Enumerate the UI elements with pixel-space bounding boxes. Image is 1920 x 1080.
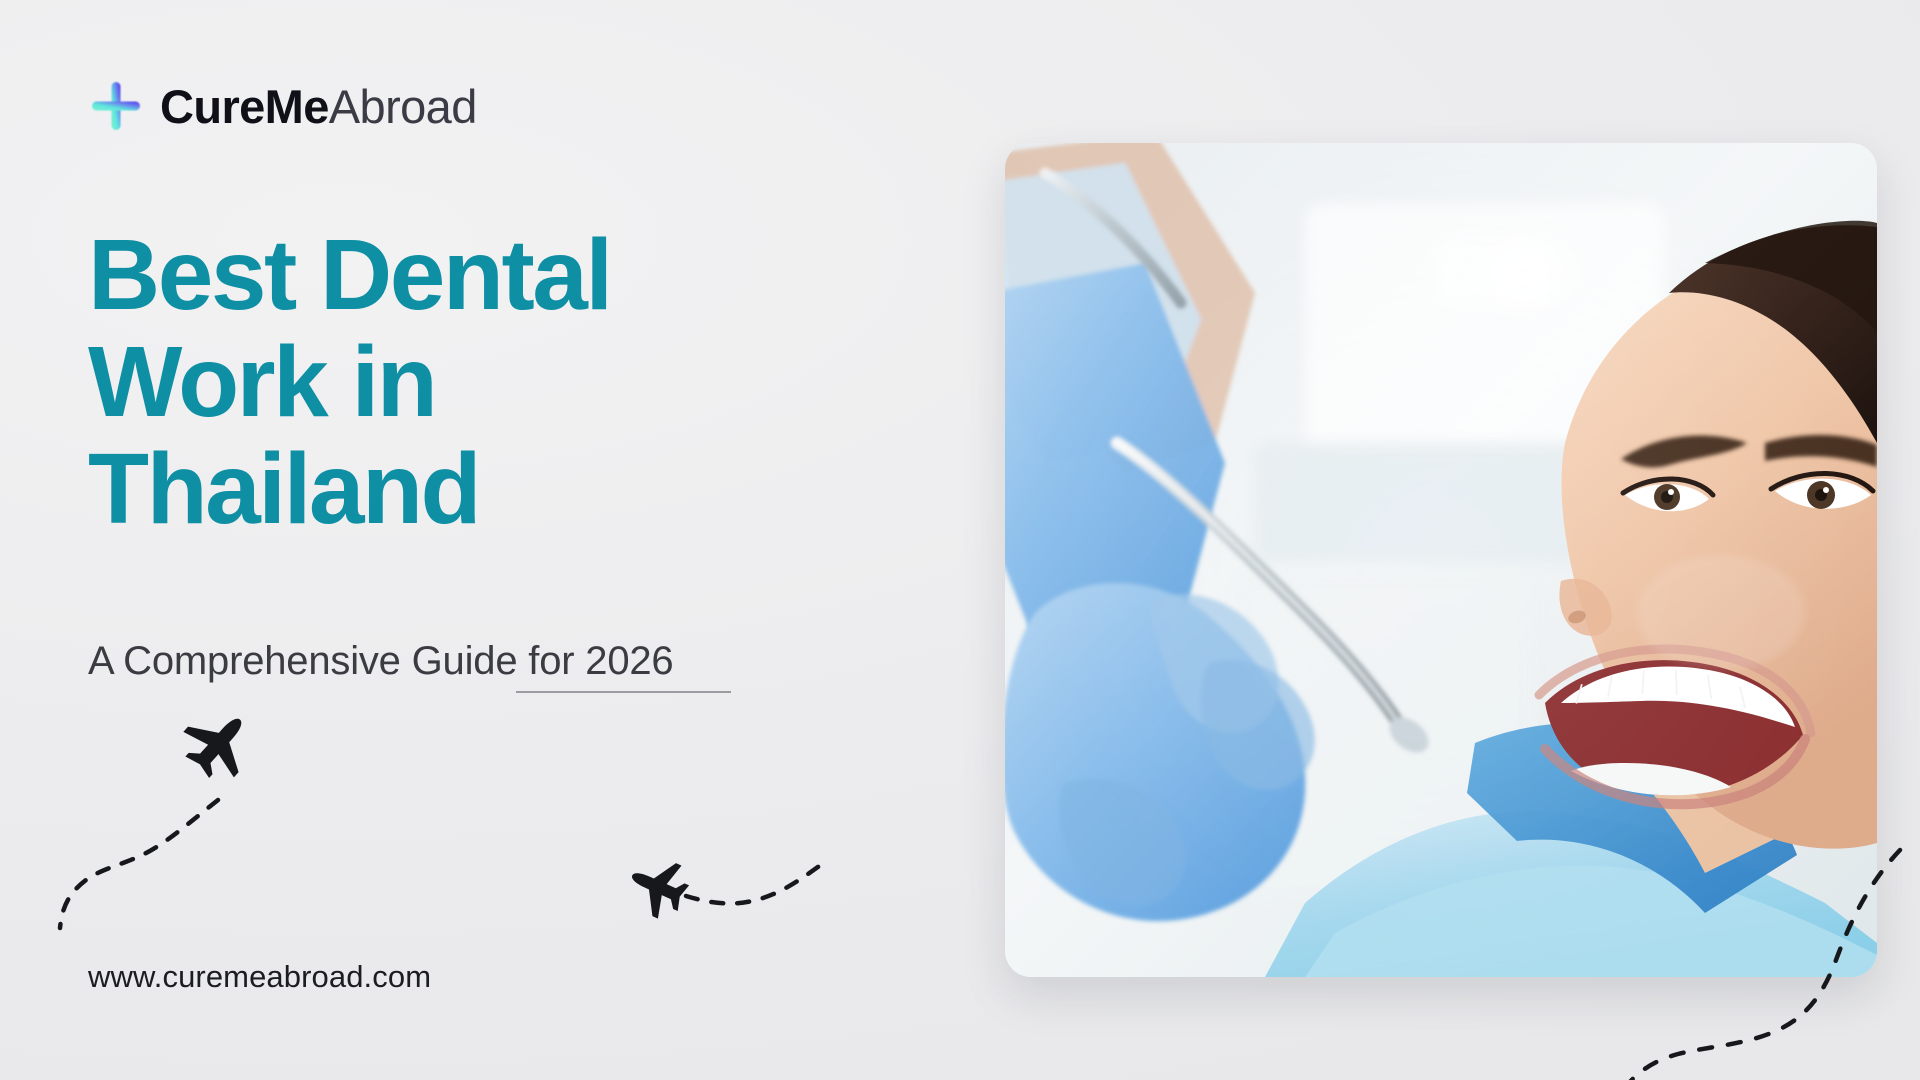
brand-name-light: Abroad	[329, 80, 477, 133]
brand-wordmark: CureMeAbroad	[160, 83, 477, 130]
airplane-icon	[172, 697, 265, 790]
poster-canvas: CureMeAbroad Best Dental Work in Thailan…	[0, 0, 1920, 1080]
decoration-flight-path-left	[30, 700, 290, 930]
decoration-flight-path-mid	[600, 820, 830, 940]
headline-line-1: Best Dental	[88, 222, 868, 329]
medical-plus-icon	[88, 78, 144, 134]
website-url[interactable]: www.curemeabroad.com	[88, 959, 431, 995]
page-subtitle: A Comprehensive Guide for 2026	[88, 639, 673, 684]
airplane-icon	[620, 849, 695, 925]
dental-patient-photo	[1005, 143, 1877, 977]
headline-line-2: Work in	[88, 329, 868, 436]
subtitle-underlined: for 2026	[528, 639, 673, 693]
headline-line-3: Thailand	[88, 436, 868, 543]
subtitle-plain: A Comprehensive Guide	[88, 639, 517, 683]
brand-name-bold: CureMe	[160, 80, 329, 133]
page-title: Best Dental Work in Thailand	[88, 222, 868, 543]
brand-logo[interactable]: CureMeAbroad	[88, 78, 477, 134]
